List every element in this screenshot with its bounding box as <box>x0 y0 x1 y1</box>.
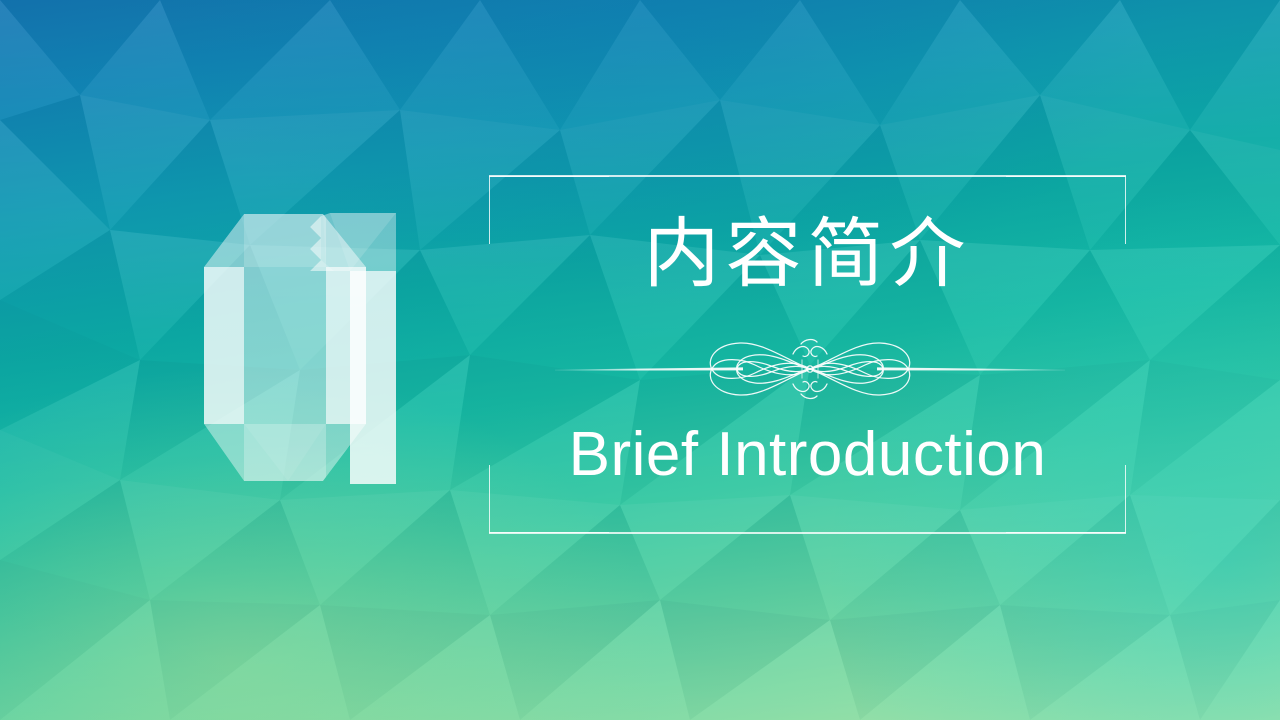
section-number-01-graphic <box>138 196 438 506</box>
flourish-divider-ornament <box>555 330 1065 408</box>
slide-canvas: 内容简介 <box>0 0 1280 720</box>
section-title-chinese: 内容简介 <box>489 206 1126 302</box>
section-title-english: Brief Introduction <box>489 415 1126 495</box>
